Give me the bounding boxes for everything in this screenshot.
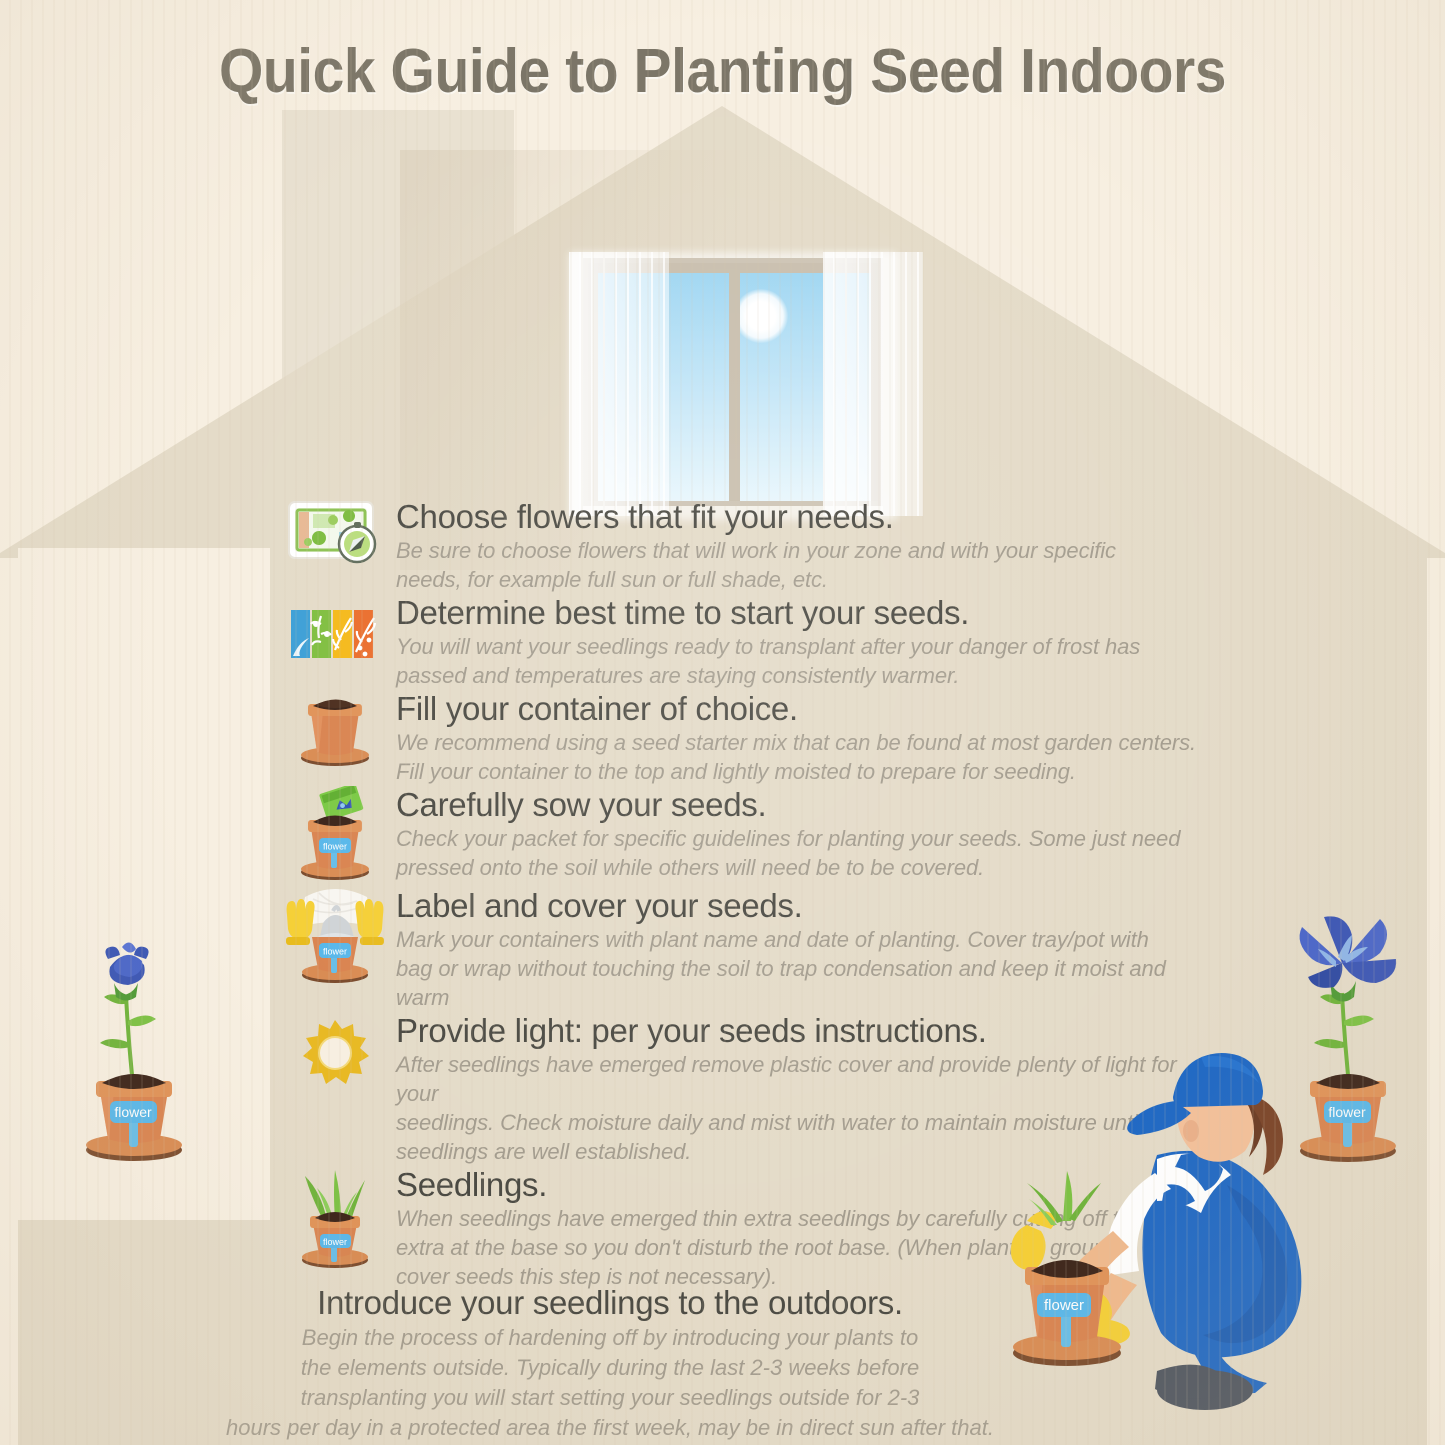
kneeling-gardener-with-potted-seedling: flower: [1005, 1035, 1340, 1440]
step-item: Choose flowers that fit your needs. Be s…: [283, 498, 1213, 594]
page-title: Quick Guide to Planting Seed Indoors: [58, 36, 1387, 107]
step-text: Choose flowers that fit your needs. Be s…: [388, 498, 1213, 594]
svg-text:flower: flower: [323, 842, 347, 852]
curtain-right: [823, 252, 923, 516]
glove-left-icon: [286, 899, 315, 945]
step-heading: Choose flowers that fit your needs.: [396, 498, 1213, 536]
step-text: Fill your container of choice. We recomm…: [388, 690, 1213, 786]
step-body: Check your packet for specific guideline…: [396, 824, 1213, 882]
step-heading: Fill your container of choice.: [396, 690, 1213, 728]
step-body: Be sure to choose flowers that will work…: [396, 536, 1213, 594]
gloves-covering-pot-icon: flower: [283, 887, 388, 990]
step-item: Fill your container of choice. We recomm…: [283, 690, 1213, 786]
step-body: We recommend using a seed starter mix th…: [396, 728, 1213, 786]
step-heading: Determine best time to start your seeds.: [396, 594, 1213, 632]
step-item: flower Label and cover your seeds. Mark …: [283, 887, 1213, 1012]
footer-body: Begin the process of hardening off by in…: [180, 1323, 1040, 1443]
seedlings-pot-icon: flower: [283, 1166, 388, 1275]
step-item: flower Carefully sow your seeds. Check y…: [283, 786, 1213, 887]
step-text: Label and cover your seeds. Mark your co…: [388, 887, 1213, 1012]
step-heading: Carefully sow your seeds.: [396, 786, 1213, 824]
blue-rose-bud-potted-plant: flower: [70, 925, 200, 1185]
step-text: Carefully sow your seeds. Check your pac…: [388, 786, 1213, 882]
svg-text:flower: flower: [1044, 1297, 1084, 1314]
svg-text:flower: flower: [323, 947, 347, 957]
glove-right-icon: [355, 899, 384, 945]
step-item: Determine best time to start your seeds.…: [283, 594, 1213, 690]
four-seasons-icon: [283, 594, 388, 669]
garden-plan-compass-icon: [283, 498, 388, 575]
svg-text:flower: flower: [323, 1237, 347, 1247]
step-body: Mark your containers with plant name and…: [396, 925, 1213, 1012]
footer-section: Introduce your seedlings to the outdoors…: [180, 1283, 1040, 1443]
seed-packet-sowing-icon: flower: [283, 786, 388, 887]
svg-text:flower: flower: [114, 1104, 152, 1120]
infographic-poster: Quick Guide to Planting Seed Indoors: [0, 0, 1445, 1445]
footer-heading: Introduce your seedlings to the outdoors…: [180, 1283, 1040, 1323]
step-heading: Label and cover your seeds.: [396, 887, 1213, 925]
step-body: You will want your seedlings ready to tr…: [396, 632, 1213, 690]
filled-pot-icon: [283, 690, 388, 773]
sun-light-ring-icon: [283, 1012, 388, 1095]
step-text: Determine best time to start your seeds.…: [388, 594, 1213, 690]
curtain-left: [569, 252, 669, 516]
sunny-window-icon: [583, 258, 883, 510]
